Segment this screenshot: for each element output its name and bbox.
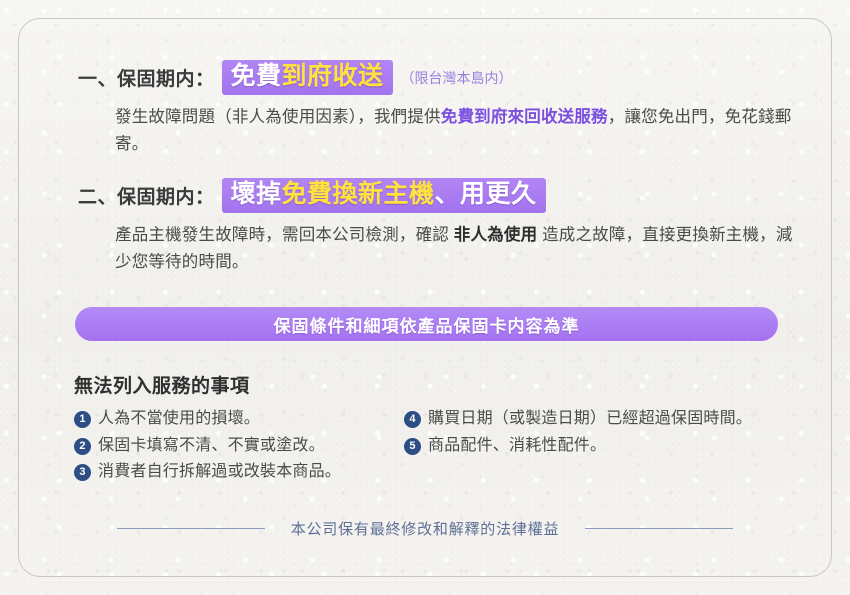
number-badge-2: 2 — [74, 438, 91, 455]
clause-2-body-emphasis: 非人為使用 — [454, 226, 538, 244]
clause-1-body-emphasis: 免費到府來回收送服務 — [441, 108, 608, 126]
clause-1-prefix: 一、保固期内： — [78, 64, 215, 91]
clause-1-body: 發生故障問題（非人為使用因素），我們提供免費到府來回收送服務，讓您免出門，免花錢… — [115, 104, 795, 157]
footer: 本公司保有最終修改和解釋的法律權益 — [0, 518, 850, 539]
list-item: 3 消費者自行拆解過或改裝本商品。 — [74, 460, 404, 484]
exclusions-section: 無法列入服務的事項 1 人為不當使用的損壞。 2 保固卡填寫不清、不實或塗改。 … — [74, 371, 795, 487]
list-item: 1 人為不當使用的損壞。 — [74, 407, 404, 431]
number-badge-3: 3 — [74, 464, 91, 481]
number-badge-4: 4 — [404, 411, 421, 428]
clause-1-heading: 一、保固期内： 免費到府收送 （限台灣本島内） — [78, 60, 795, 95]
list-item: 2 保固卡填寫不清、不實或塗改。 — [74, 434, 404, 458]
footer-rule-right — [585, 528, 733, 529]
list-item-text: 人為不當使用的損壞。 — [98, 407, 260, 431]
clause-1-banner-lead: 免費 — [231, 62, 282, 90]
clause-item-1: 一、保固期内： 免費到府收送 （限台灣本島内） 發生故障問題（非人為使用因素），… — [78, 60, 795, 157]
clause-2-banner-tail: 、用更久 — [435, 180, 537, 208]
exclusions-column-right: 4 購買日期（或製造日期）已經超過保固時間。 5 商品配件、消耗性配件。 — [404, 407, 795, 487]
list-item-text: 消費者自行拆解過或改裝本商品。 — [98, 460, 341, 484]
clause-2-heading: 二、保固期内： 壞掉免費換新主機、用更久 — [78, 178, 795, 213]
list-item-text: 保固卡填寫不清、不實或塗改。 — [98, 434, 325, 458]
clause-1-body-pre: 發生故障問題（非人為使用因素），我們提供 — [115, 108, 441, 126]
list-item-text: 商品配件、消耗性配件。 — [428, 434, 606, 458]
exclusions-column-left: 1 人為不當使用的損壞。 2 保固卡填寫不清、不實或塗改。 3 消費者自行拆解過… — [74, 407, 404, 487]
footer-rule-left — [117, 528, 265, 529]
number-badge-5: 5 — [404, 438, 421, 455]
page-content: 一、保固期内： 免費到府收送 （限台灣本島内） 發生故障問題（非人為使用因素），… — [0, 0, 850, 595]
clause-2-body: 產品主機發生故障時，需回本公司檢測，確認 非人為使用 造成之故障，直接更換新主機… — [115, 222, 795, 275]
clause-2-banner-highlight: 免費換新主機 — [282, 180, 435, 208]
warranty-page: 一、保固期内： 免費到府收送 （限台灣本島内） 發生故障問題（非人為使用因素），… — [0, 0, 850, 595]
clause-1-banner: 免費到府收送 — [222, 60, 393, 95]
clause-1-note: （限台灣本島内） — [401, 68, 513, 88]
footer-text: 本公司保有最終修改和解釋的法律權益 — [291, 518, 560, 539]
list-item-text: 購買日期（或製造日期）已經超過保固時間。 — [428, 407, 752, 431]
exclusions-columns: 1 人為不當使用的損壞。 2 保固卡填寫不清、不實或塗改。 3 消費者自行拆解過… — [74, 407, 795, 487]
clause-item-2: 二、保固期内： 壞掉免費換新主機、用更久 產品主機發生故障時，需回本公司檢測，確… — [78, 178, 795, 275]
list-item: 5 商品配件、消耗性配件。 — [404, 434, 795, 458]
clause-2-prefix: 二、保固期内： — [78, 182, 215, 209]
clause-2-body-pre: 產品主機發生故障時，需回本公司檢測，確認 — [115, 226, 454, 244]
warranty-card-notice-text: 保固條件和細項依產品保固卡内容為準 — [274, 312, 580, 337]
clause-1-banner-highlight: 到府收送 — [282, 62, 384, 90]
warranty-card-notice-pill: 保固條件和細項依產品保固卡内容為準 — [75, 307, 778, 341]
exclusions-title: 無法列入服務的事項 — [74, 371, 795, 398]
clause-2-banner: 壞掉免費換新主機、用更久 — [222, 178, 546, 213]
number-badge-1: 1 — [74, 411, 91, 428]
clause-2-banner-lead: 壞掉 — [231, 180, 282, 208]
list-item: 4 購買日期（或製造日期）已經超過保固時間。 — [404, 407, 795, 431]
